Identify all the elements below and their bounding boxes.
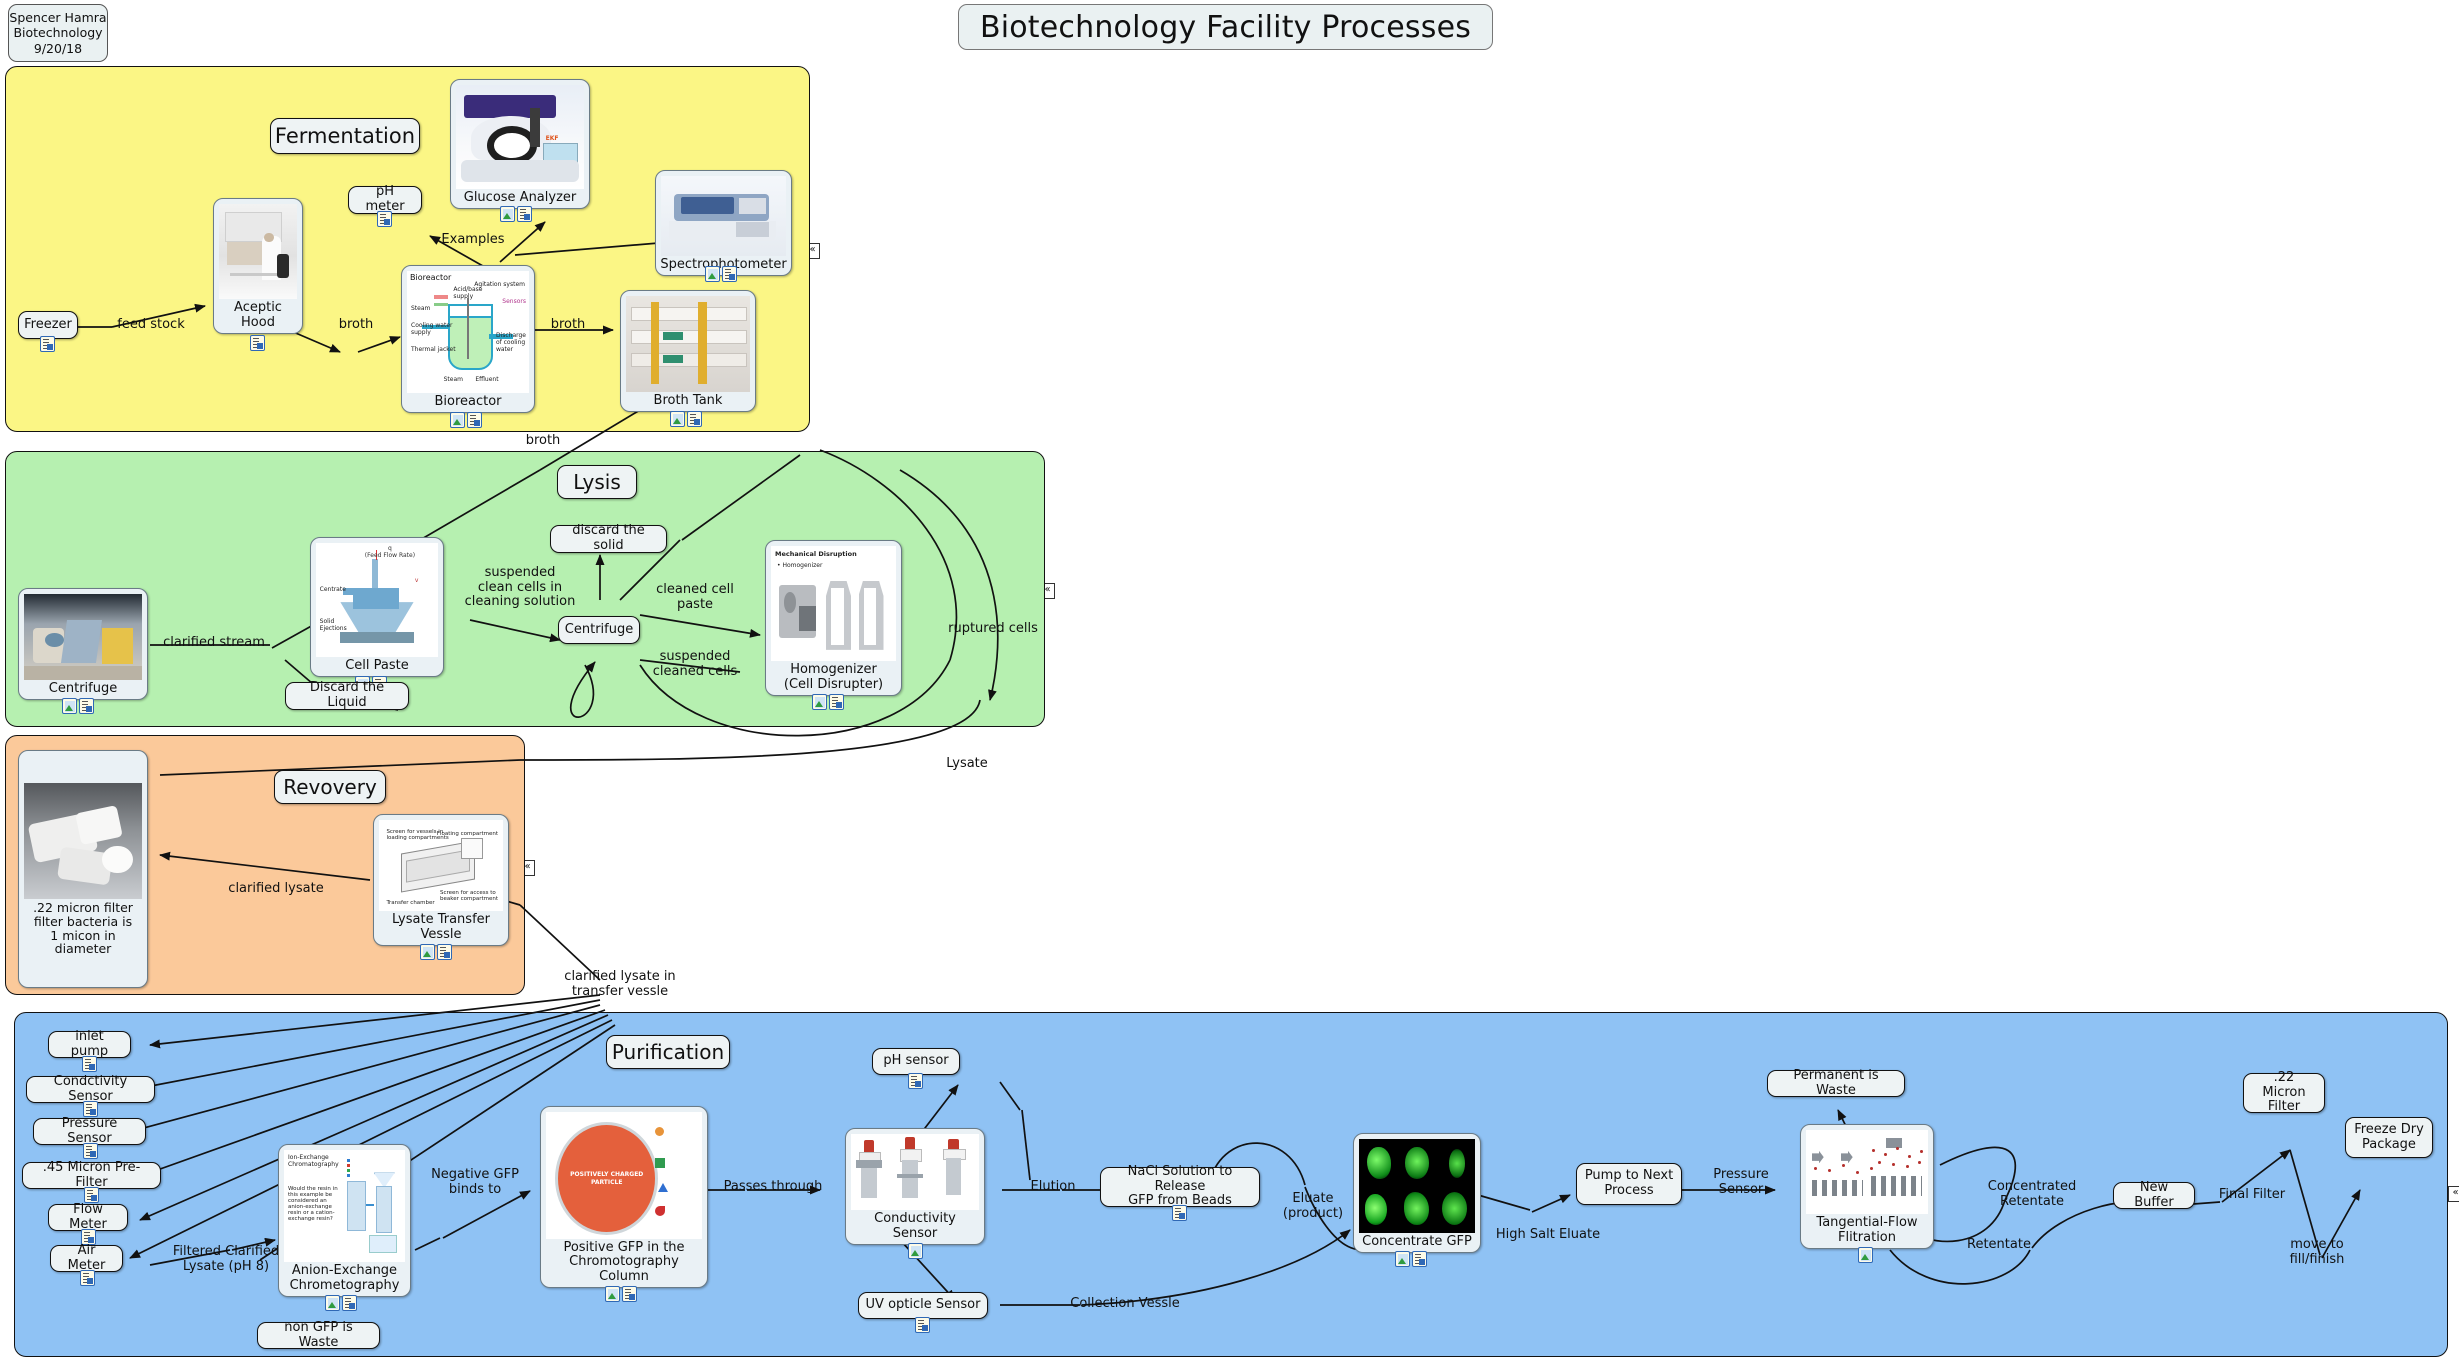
- node-label: Bioreactor: [433, 393, 502, 410]
- node-label: UV opticle Sensor: [860, 1296, 987, 1315]
- node-ph-sensor[interactable]: pH sensor: [872, 1048, 960, 1075]
- node-label: discard the solid: [551, 522, 666, 555]
- node-concentrate-gfp[interactable]: Concentrate GFP: [1353, 1133, 1481, 1253]
- glucose-analyzer-photo: EKF: [456, 85, 584, 189]
- image-icon[interactable]: [812, 694, 827, 710]
- node-bioreactor[interactable]: Bioreactor Steam Cooling watersupply The…: [401, 265, 535, 413]
- icons-spectrophotometer[interactable]: [705, 266, 737, 282]
- doc-icon[interactable]: [622, 1286, 637, 1302]
- icons-inlet-pump[interactable]: [82, 1056, 97, 1072]
- doc-icon[interactable]: [377, 211, 392, 227]
- doc-icon[interactable]: [1412, 1251, 1427, 1267]
- node-label: non GFP is Waste: [258, 1319, 379, 1352]
- collapse-marker-purification[interactable]: «: [2448, 1186, 2459, 1202]
- icons-pressure-sensor[interactable]: [83, 1143, 98, 1159]
- doc-icon[interactable]: [908, 1073, 923, 1089]
- homogenizer-diagram: Mechanical Disruption • Homogenizer: [771, 546, 896, 661]
- node-aceptic-hood[interactable]: Aceptic Hood: [213, 198, 303, 334]
- doc-icon[interactable]: [79, 698, 94, 714]
- icons-air-meter[interactable]: [80, 1270, 95, 1286]
- image-icon[interactable]: [1858, 1247, 1873, 1263]
- node-flow-meter[interactable]: Flow Meter: [48, 1204, 128, 1231]
- anion-exchange-diagram: Ion-ExchangeChromatography Would the res…: [284, 1150, 405, 1262]
- concentrate-gfp-photo: [1359, 1139, 1475, 1233]
- node-pressure-sensor[interactable]: Pressure Sensor: [33, 1118, 146, 1145]
- node-non-gfp-waste[interactable]: non GFP is Waste: [257, 1322, 380, 1349]
- image-icon[interactable]: [1395, 1251, 1410, 1267]
- image-icon[interactable]: [908, 1243, 923, 1259]
- icons-homogenizer[interactable]: [812, 694, 844, 710]
- doc-icon[interactable]: [82, 1056, 97, 1072]
- icons-ph-meter[interactable]: [377, 211, 392, 227]
- broth-tank-photo: [626, 296, 750, 392]
- node-label: .22 micron filter filter bacteria is 1 m…: [24, 899, 142, 957]
- node-pre-filter[interactable]: .45 Micron Pre-Filter: [22, 1162, 161, 1189]
- node-micron-filter-22[interactable]: .22 Micron Filter: [2243, 1073, 2325, 1113]
- node-discard-the-solid[interactable]: discard the solid: [550, 525, 667, 553]
- icons-broth-tank[interactable]: [670, 411, 702, 427]
- tangential-flow-diagram: [1806, 1130, 1928, 1214]
- edge-label-clarified-lysate-transfer: clarified lysate in transfer vessle: [546, 970, 694, 999]
- diagram-canvas: Biotechnology Facility Processes Spencer…: [0, 0, 2459, 1365]
- node-label: New Buffer: [2114, 1179, 2194, 1212]
- group-title-purification: Purification: [606, 1035, 730, 1069]
- author-stamp: Spencer Hamra Biotechnology 9/20/18: [8, 4, 108, 62]
- node-label: Conductivity Sensor: [851, 1210, 979, 1242]
- icons-aceptic-hood[interactable]: [250, 335, 265, 351]
- icons-lysis-centrifuge-left[interactable]: [62, 698, 94, 714]
- node-conductivity-sensor[interactable]: Conductivity Sensor: [845, 1128, 985, 1245]
- doc-icon[interactable]: [915, 1317, 930, 1333]
- page-title: Biotechnology Facility Processes: [958, 4, 1493, 50]
- node-label: pH sensor: [877, 1052, 954, 1071]
- node-uv-opticle-sensor[interactable]: UV opticle Sensor: [858, 1292, 988, 1319]
- node-label: Cell Paste: [344, 657, 410, 674]
- lysate-transfer-diagram: Screen for vessels inloading compartment…: [379, 820, 503, 911]
- node-air-meter[interactable]: Air Meter: [50, 1245, 123, 1272]
- node-pump-next-process[interactable]: Pump to Next Process: [1576, 1163, 1682, 1205]
- image-icon[interactable]: [705, 266, 720, 282]
- group-title-fermentation: Fermentation: [270, 118, 420, 154]
- node-label: Freeze Dry Package: [2348, 1121, 2430, 1154]
- icons-ph-sensor[interactable]: [908, 1073, 923, 1089]
- node-lysate-transfer-vessle[interactable]: Screen for vessels inloading compartment…: [373, 814, 509, 946]
- node-glucose-analyzer[interactable]: EKF Glucose Analyzer: [450, 79, 590, 209]
- image-icon[interactable]: [670, 411, 685, 427]
- doc-icon[interactable]: [722, 266, 737, 282]
- node-label: Tangential-Flow Flitration: [1815, 1214, 1918, 1246]
- node-new-buffer[interactable]: New Buffer: [2113, 1182, 2195, 1209]
- icons-uv-opticle-sensor[interactable]: [915, 1317, 930, 1333]
- micron-filter-photo: [24, 783, 142, 899]
- image-icon[interactable]: [420, 944, 435, 960]
- icons-glucose-analyzer[interactable]: [500, 206, 532, 222]
- doc-icon[interactable]: [40, 336, 55, 352]
- doc-icon[interactable]: [250, 335, 265, 351]
- node-label: Glucose Analyzer: [463, 189, 578, 206]
- icons-freezer[interactable]: [40, 336, 55, 352]
- icons-tangential-flow[interactable]: [1858, 1247, 1873, 1263]
- doc-icon[interactable]: [83, 1143, 98, 1159]
- icons-concentrate-gfp[interactable]: [1395, 1251, 1427, 1267]
- centrifuge-photo: [24, 594, 142, 680]
- icons-positive-gfp-column[interactable]: [605, 1286, 637, 1302]
- group-title-recovery: Revovery: [274, 770, 386, 804]
- node-positive-gfp-column[interactable]: POSITIVELY CHARGED PARTICLE Positive GFP…: [540, 1106, 708, 1288]
- image-icon[interactable]: [62, 698, 77, 714]
- node-freezer[interactable]: Freezer: [18, 311, 78, 339]
- doc-icon[interactable]: [829, 694, 844, 710]
- cell-paste-diagram: q(Feed Flow Rate) Centrate SolidEjection…: [316, 543, 438, 657]
- node-nacl-solution[interactable]: NaCl Solution to Release GFP from Beads: [1100, 1167, 1260, 1207]
- node-label: Permanent is Waste: [1768, 1067, 1904, 1100]
- conductivity-sensor-photo: [851, 1134, 979, 1210]
- icons-conductivity-sensor[interactable]: [908, 1243, 923, 1259]
- image-icon[interactable]: [325, 1295, 340, 1311]
- node-inlet-pump[interactable]: inlet pump: [48, 1031, 131, 1058]
- edge-label-lysate: Lysate: [930, 757, 1004, 772]
- image-icon[interactable]: [605, 1286, 620, 1302]
- doc-icon[interactable]: [437, 944, 452, 960]
- doc-icon[interactable]: [687, 411, 702, 427]
- node-label: Centrifuge: [559, 621, 639, 640]
- node-label: Pump to Next Process: [1579, 1167, 1679, 1200]
- bioreactor-art-title: Bioreactor: [410, 273, 451, 282]
- node-label: NaCl Solution to Release GFP from Beads: [1101, 1163, 1259, 1211]
- node-broth-tank[interactable]: Broth Tank: [620, 290, 756, 412]
- node-homogenizer[interactable]: Mechanical Disruption • Homogenizer Homo…: [765, 540, 902, 696]
- node-micron-filter[interactable]: .22 micron filter filter bacteria is 1 m…: [18, 750, 148, 988]
- doc-icon[interactable]: [1172, 1205, 1187, 1221]
- spectrophotometer-photo: [661, 176, 786, 256]
- node-label: Concentrate GFP: [1361, 1233, 1473, 1250]
- image-icon[interactable]: [500, 206, 515, 222]
- node-ph-meter[interactable]: pH meter: [348, 186, 422, 214]
- node-spectrophotometer[interactable]: Spectrophotometer: [655, 170, 792, 276]
- node-anion-exchange[interactable]: Ion-ExchangeChromatography Would the res…: [278, 1144, 411, 1297]
- node-freeze-dry-package[interactable]: Freeze Dry Package: [2345, 1117, 2433, 1158]
- edge-label-broth-3: broth: [515, 434, 571, 449]
- image-icon[interactable]: [450, 412, 465, 428]
- node-discard-the-liquid[interactable]: Discard the Liquid: [285, 682, 409, 710]
- node-cell-paste[interactable]: q(Feed Flow Rate) Centrate SolidEjection…: [310, 537, 444, 677]
- node-label: Broth Tank: [653, 392, 724, 409]
- icons-lysate-transfer-vessle[interactable]: [420, 944, 452, 960]
- gfp-particle-label: POSITIVELY CHARGED PARTICLE: [558, 1171, 655, 1185]
- node-label: .22 Micron Filter: [2244, 1069, 2324, 1117]
- node-lysis-centrifuge-left[interactable]: Centrifuge: [18, 588, 148, 700]
- doc-icon[interactable]: [517, 206, 532, 222]
- node-label: Aceptic Hood: [219, 299, 297, 331]
- node-label: Anion-Exchange Chrometography: [289, 1262, 401, 1294]
- bioreactor-diagram: Bioreactor Steam Cooling watersupply The…: [407, 271, 529, 393]
- group-title-lysis: Lysis: [557, 465, 637, 499]
- node-label: Lysate Transfer Vessle: [391, 911, 491, 943]
- node-label: Discard the Liquid: [286, 679, 408, 712]
- node-label: Centrifuge: [48, 680, 118, 697]
- node-conductivity-sensor-left[interactable]: Condctivity Sensor: [26, 1076, 155, 1103]
- doc-icon[interactable]: [80, 1270, 95, 1286]
- icons-nacl-solution[interactable]: [1172, 1205, 1187, 1221]
- icons-anion-exchange[interactable]: [325, 1295, 357, 1311]
- icons-bioreactor[interactable]: [450, 412, 482, 428]
- node-tangential-flow[interactable]: Tangential-Flow Flitration: [1800, 1124, 1934, 1249]
- node-permanent-is-waste[interactable]: Permanent is Waste: [1767, 1070, 1905, 1097]
- node-label: Positive GFP in the Chromotography Colum…: [546, 1239, 702, 1285]
- aceptic-hood-photo: [219, 204, 297, 299]
- doc-icon[interactable]: [467, 412, 482, 428]
- doc-icon[interactable]: [342, 1295, 357, 1311]
- node-lysis-centrifuge[interactable]: Centrifuge: [558, 616, 640, 644]
- positive-gfp-diagram: POSITIVELY CHARGED PARTICLE: [546, 1112, 702, 1239]
- node-label: Homogenizer (Cell Disrupter): [783, 661, 884, 693]
- node-label: Freezer: [18, 316, 78, 335]
